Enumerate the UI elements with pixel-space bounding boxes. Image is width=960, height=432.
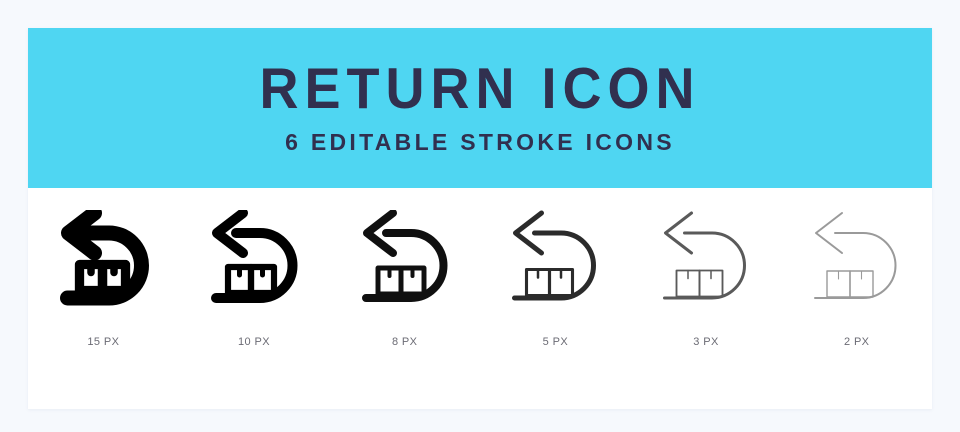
return-icon[interactable]: [349, 210, 461, 314]
icon-gallery: 15 PX10 PX8 PX5 PX3 PX2 PX: [28, 188, 932, 409]
icon-size-label: 15 PX: [87, 336, 119, 348]
return-icon-glyph: [650, 210, 762, 314]
return-icon-glyph: [47, 210, 159, 314]
icon-cell-10px[interactable]: 10 PX: [179, 188, 330, 409]
icon-size-label: 3 PX: [693, 336, 718, 348]
icon-cell-5px[interactable]: 5 PX: [480, 188, 631, 409]
header-band: RETURN ICON 6 EDITABLE STROKE ICONS: [28, 28, 932, 188]
icon-size-label: 2 PX: [844, 336, 869, 348]
icon-cell-3px[interactable]: 3 PX: [631, 188, 782, 409]
icon-set-card: RETURN ICON 6 EDITABLE STROKE ICONS 15 P…: [28, 28, 932, 409]
return-icon[interactable]: [650, 210, 762, 314]
icon-size-label: 8 PX: [392, 336, 417, 348]
icon-cell-8px[interactable]: 8 PX: [329, 188, 480, 409]
page-subtitle: 6 EDITABLE STROKE ICONS: [285, 131, 675, 154]
return-icon-glyph: [349, 210, 461, 314]
icon-cell-15px[interactable]: 15 PX: [28, 188, 179, 409]
icon-size-label: 5 PX: [543, 336, 568, 348]
return-icon[interactable]: [801, 210, 913, 314]
return-icon[interactable]: [47, 210, 159, 314]
page-title: RETURN ICON: [260, 60, 701, 117]
return-icon-glyph: [499, 210, 611, 314]
return-icon[interactable]: [499, 210, 611, 314]
return-icon-glyph: [801, 210, 913, 314]
icon-cell-2px[interactable]: 2 PX: [781, 188, 932, 409]
return-icon-glyph: [198, 210, 310, 314]
icon-size-label: 10 PX: [238, 336, 270, 348]
return-icon[interactable]: [198, 210, 310, 314]
